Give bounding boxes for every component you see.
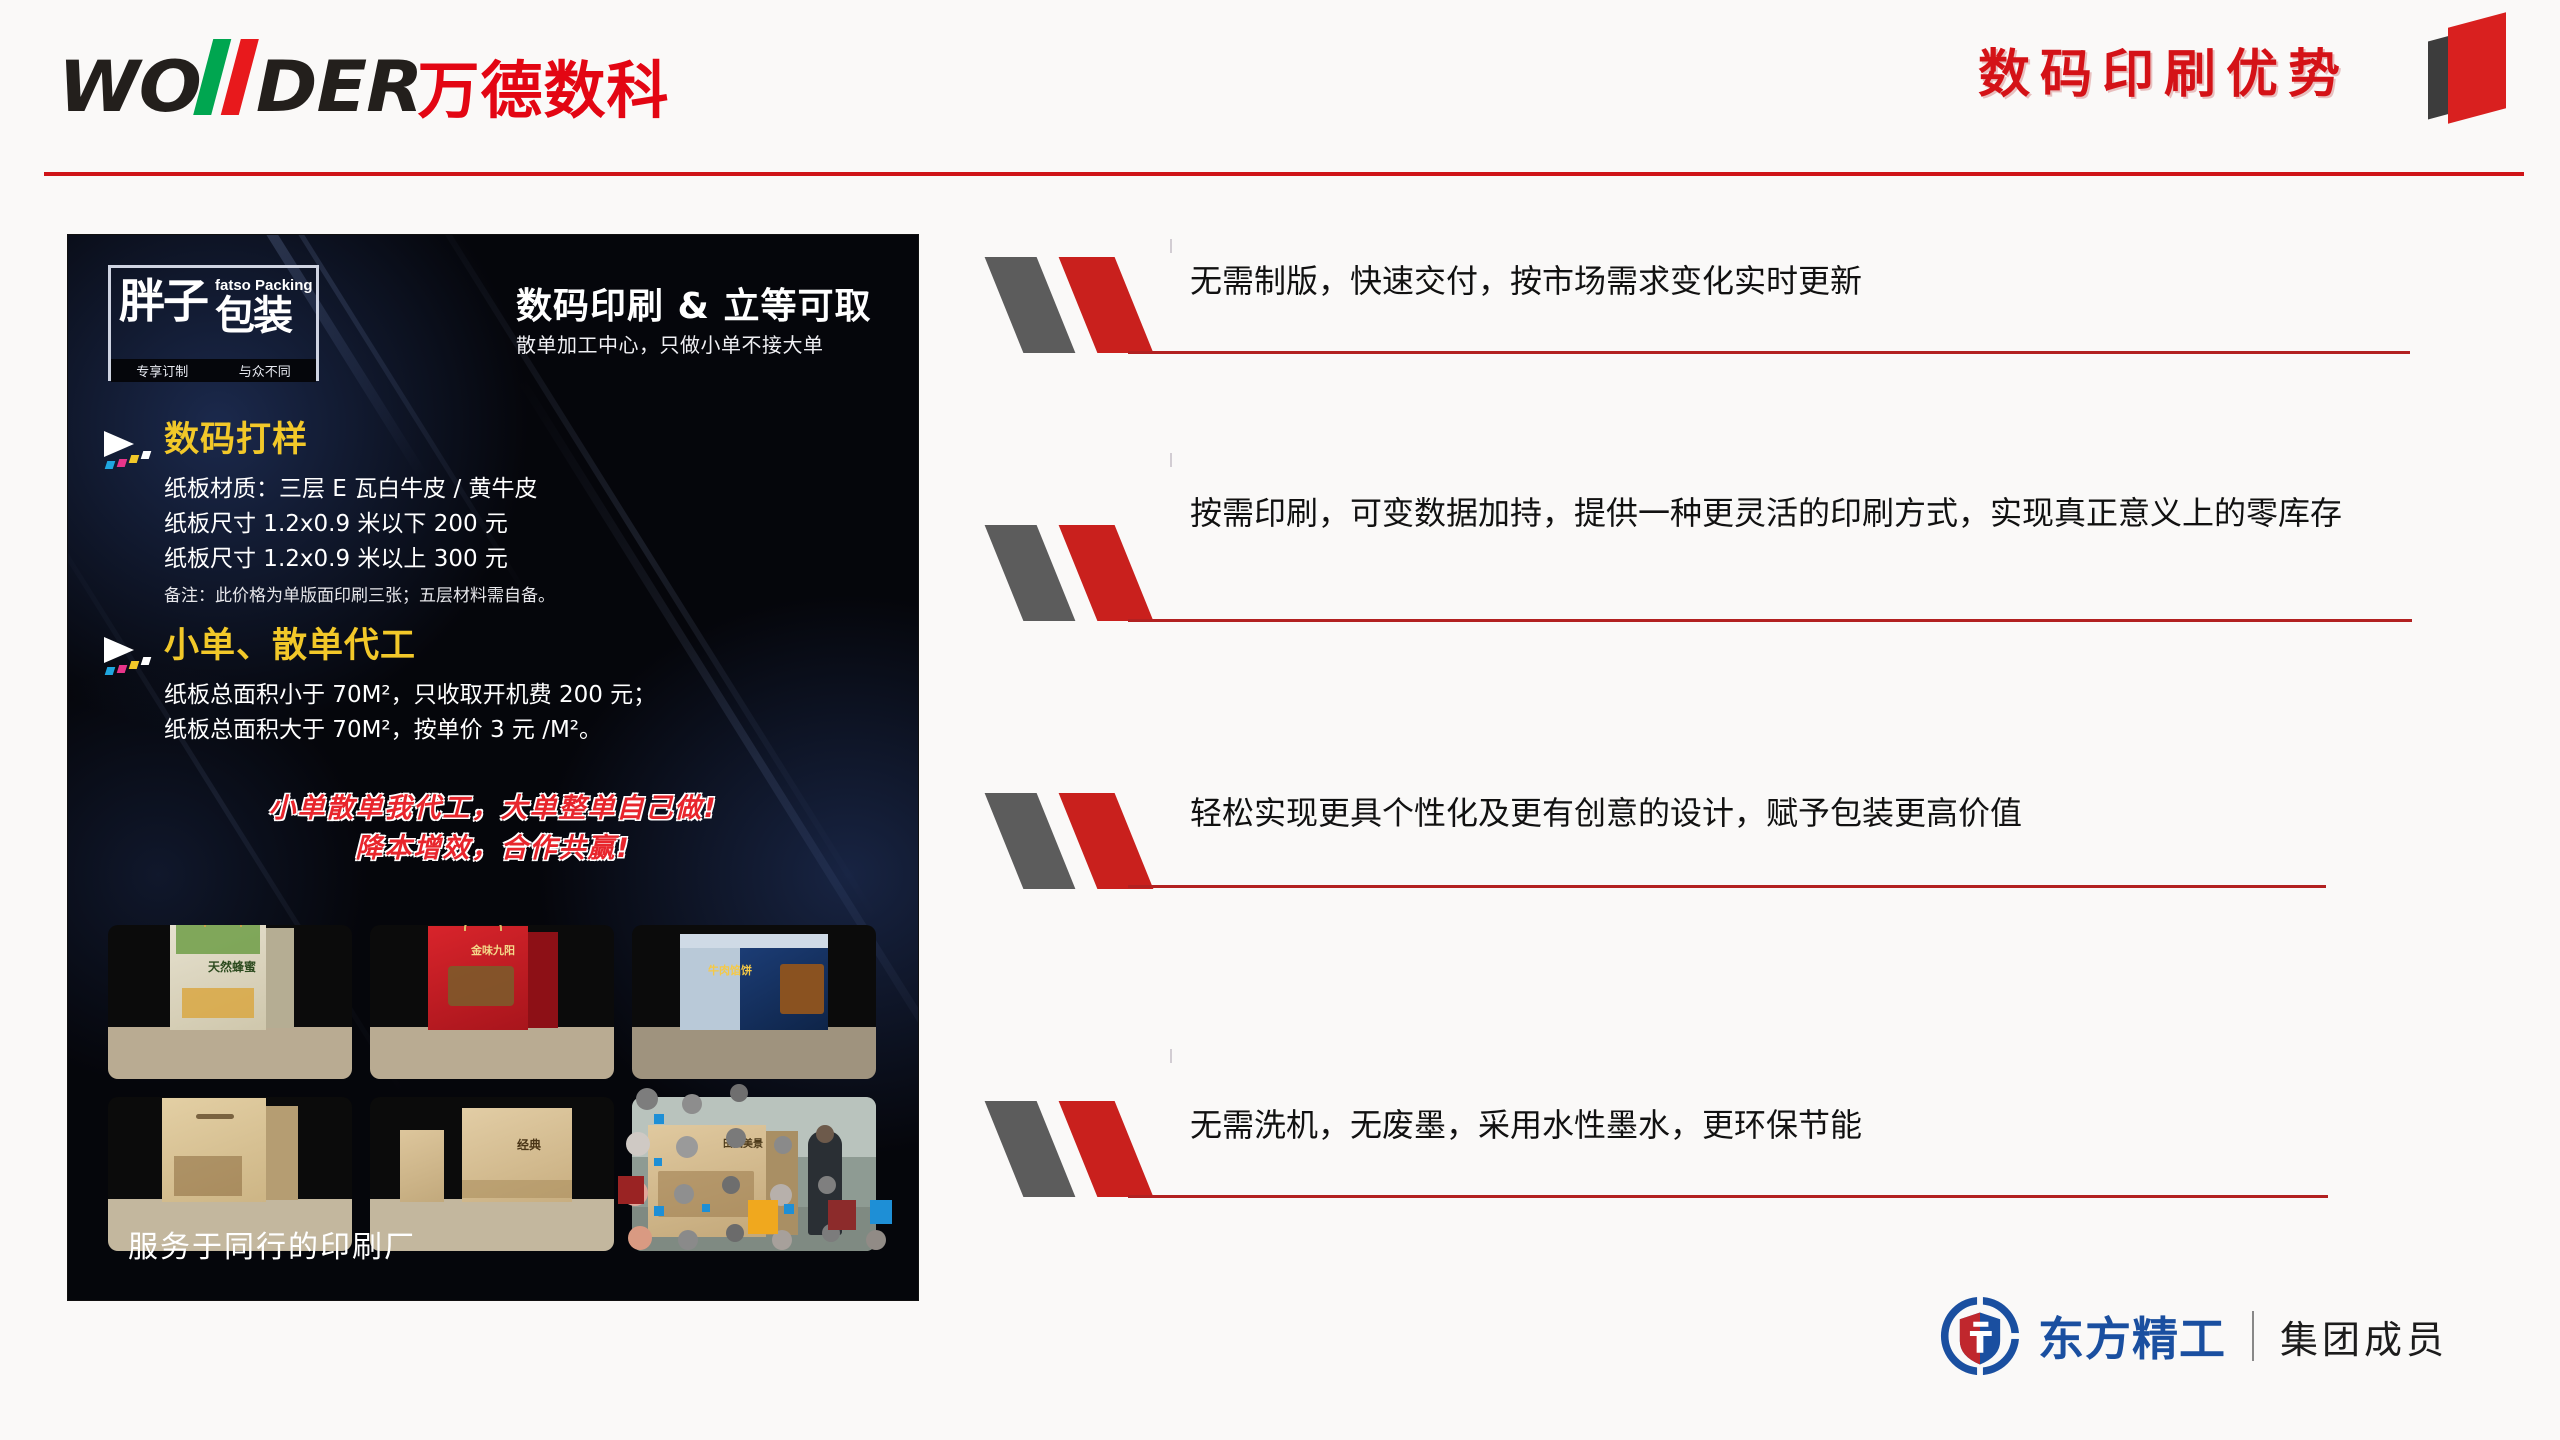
tagline-right: 与众不同 <box>239 361 291 380</box>
wonder-wordmark-pre: WO <box>58 46 201 128</box>
bullet-text-4: 无需洗机，无废墨，采用水性墨水，更环保节能 <box>1190 1101 2405 1151</box>
proofing-line-2: 纸板尺寸 1.2x0.9 米以下 200 元 <box>164 507 555 542</box>
dongfang-shield-icon <box>1938 1294 2022 1378</box>
photo-blue-beef-pie-box: 牛肉馅饼 <box>632 925 876 1079</box>
oem-line-2: 纸板总面积大于 70M²，按单价 3 元 /M²。 <box>164 713 656 748</box>
logo-divider <box>2252 1311 2254 1361</box>
arrow-marker-icon-1 <box>98 429 158 481</box>
photo-caption-3: 牛肉馅饼 <box>656 962 804 978</box>
tick-mark-icon-4 <box>1170 1049 1172 1063</box>
bullet-underline-2 <box>1128 619 2412 622</box>
bullet-text-2: 按需印刷，可变数据加持，提供一种更灵活的印刷方式，实现真正意义上的零库存 <box>1190 489 2405 539</box>
promo-poster-image: 胖子 fatso Packing 包装 专享订制 与众不同 数码印刷 & 立等可… <box>68 235 918 1300</box>
section-title-oem: 小单、散单代工 <box>164 629 656 664</box>
fatso-logo-cn: 胖子 <box>119 278 207 324</box>
bullet-underline-1 <box>1128 351 2410 354</box>
poster-slogan-line-1: 小单散单我代工，大单整单自己做! <box>68 791 918 827</box>
fatso-logo-en: fatso Packing <box>215 277 313 294</box>
bullet-eco-ink: 无需洗机，无废墨，采用水性墨水，更环保节能 <box>1000 1045 2460 1285</box>
decorative-dot-grid <box>618 1080 918 1300</box>
fatso-logo-taglines: 专享订制 与众不同 <box>111 359 316 382</box>
tick-mark-icon-1 <box>1170 239 1172 253</box>
poster-subheadline: 散单加工中心，只做小单不接大单 <box>516 329 824 358</box>
photo-red-meat-gift-box: 金味九阳 <box>370 925 614 1079</box>
bullet-on-demand: 按需印刷，可变数据加持，提供一种更灵活的印刷方式，实现真正意义上的零库存 <box>1000 485 2460 805</box>
bullet-text-3: 轻松实现更具个性化及更有创意的设计，赋予包装更高价值 <box>1190 789 2405 839</box>
bullet-marker-icon-1 <box>1000 257 1190 353</box>
wonder-wordmark-post: DER <box>256 46 422 128</box>
bullet-marker-icon-2 <box>1000 525 1190 621</box>
photo-caption-2: 金味九阳 <box>428 942 558 958</box>
tick-mark-icon-2 <box>1170 453 1172 467</box>
wonder-wordmark: WODER <box>58 52 422 122</box>
bullet-underline-3 <box>1128 885 2326 888</box>
poster-section-oem: 小单、散单代工 纸板总面积小于 70M²，只收取开机费 200 元； 纸板总面积… <box>164 629 656 748</box>
page-title: 数码印刷优势 <box>1978 44 2350 106</box>
wonder-brand-logo: WODER 万德数科 <box>58 44 670 122</box>
page-header: WODER 万德数科 数码印刷优势 <box>0 0 2560 180</box>
proofing-note: 备注：此价格为单版面印刷三张；五层材料需自备。 <box>164 581 555 606</box>
poster-footer-text: 服务于同行的印刷厂 <box>128 1222 416 1266</box>
poster-headline: 数码印刷 & 立等可取 <box>516 277 871 329</box>
section-title-proofing: 数码打样 <box>164 423 555 458</box>
fatso-packing-logo: 胖子 fatso Packing 包装 专享订制 与众不同 <box>108 265 319 381</box>
proofing-line-3: 纸板尺寸 1.2x0.9 米以上 300 元 <box>164 542 555 577</box>
fatso-logo-pack: 包装 <box>215 296 291 336</box>
poster-section-proofing: 数码打样 纸板材质：三层 E 瓦白牛皮 / 黄牛皮 纸板尺寸 1.2x0.9 米… <box>164 423 555 606</box>
bullet-custom-design: 轻松实现更具个性化及更有创意的设计，赋予包装更高价值 <box>1000 805 2460 1045</box>
bullet-marker-icon-3 <box>1000 793 1190 889</box>
photo-caption-5: 经典 <box>434 1136 614 1153</box>
dongfang-brand-name: 东方精工 <box>2038 1303 2226 1369</box>
header-divider <box>44 172 2524 176</box>
photo-honey-gift-box: 天然蜂蜜 <box>108 925 352 1079</box>
bullet-marker-icon-4 <box>1000 1101 1190 1197</box>
dongfang-jinggong-logo: 东方精工 集团成员 <box>1938 1294 2448 1378</box>
photo-caption-1: 天然蜂蜜 <box>170 958 294 975</box>
bullet-text-1: 无需制版，快速交付，按市场需求变化实时更新 <box>1190 257 2405 307</box>
advantages-list: 无需制版，快速交付，按市场需求变化实时更新 按需印刷，可变数据加持，提供一种更灵… <box>1000 245 2460 1285</box>
arrow-marker-icon-2 <box>98 635 158 687</box>
corner-flag-icon <box>2422 8 2532 126</box>
proofing-line-1: 纸板材质：三层 E 瓦白牛皮 / 黄牛皮 <box>164 472 555 507</box>
bullet-no-plate: 无需制版，快速交付，按市场需求变化实时更新 <box>1000 245 2460 485</box>
oem-line-1: 纸板总面积小于 70M²，只收取开机费 200 元； <box>164 678 656 713</box>
wonder-chinese-name: 万德数科 <box>418 60 670 122</box>
bullet-underline-4 <box>1128 1195 2328 1198</box>
tagline-left: 专享订制 <box>136 361 188 380</box>
dongfang-group-member-label: 集团成员 <box>2280 1309 2448 1364</box>
poster-slogan-line-2: 降本增效，合作共赢! <box>68 831 918 867</box>
